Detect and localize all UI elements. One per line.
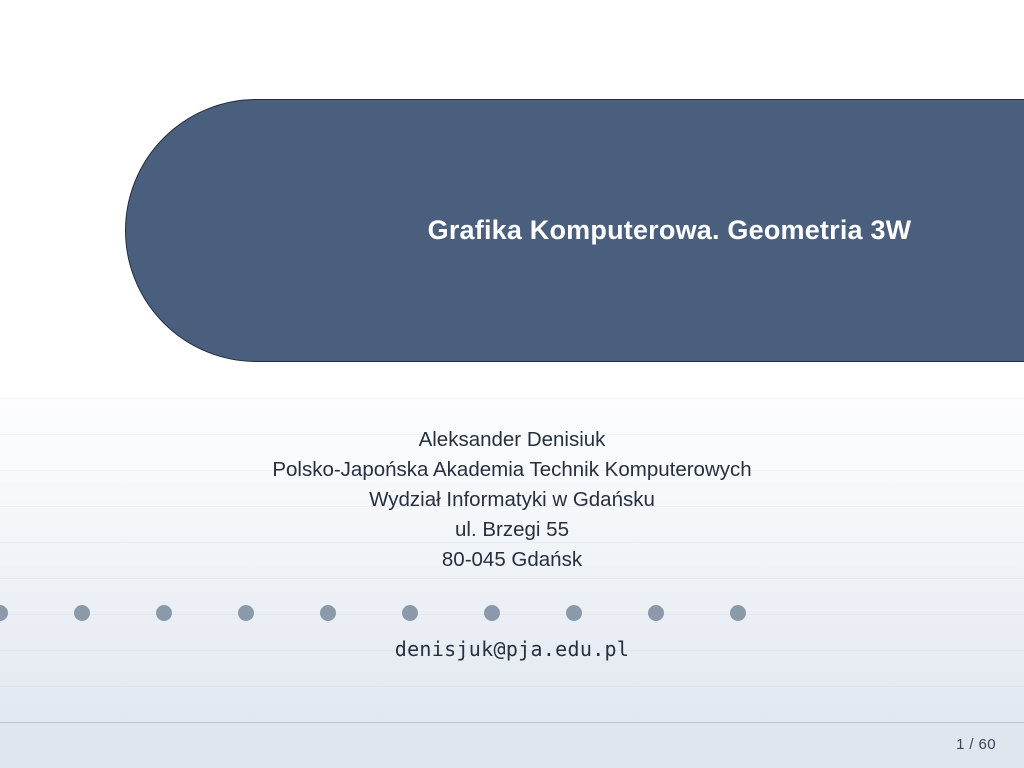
presentation-slide: Grafika Komputerowa. Geometria 3W Aleksa… bbox=[0, 0, 1024, 768]
address-street: ul. Brzegi 55 bbox=[0, 515, 1024, 545]
author-name: Aleksander Denisiuk bbox=[0, 425, 1024, 455]
author-email[interactable]: denisjuk@pja.edu.pl bbox=[0, 637, 1024, 661]
page-number-indicator: 1 / 60 bbox=[956, 736, 996, 753]
page-title: Grafika Komputerowa. Geometria 3W bbox=[0, 99, 1024, 362]
address-city: 80-045 Gdańsk bbox=[0, 545, 1024, 575]
author-affiliation-block: Aleksander Denisiuk Polsko-Japońska Akad… bbox=[0, 425, 1024, 575]
affiliation-university: Polsko-Japońska Akademia Technik Kompute… bbox=[0, 455, 1024, 485]
affiliation-faculty: Wydział Informatyki w Gdańsku bbox=[0, 485, 1024, 515]
footer-band bbox=[0, 722, 1024, 768]
